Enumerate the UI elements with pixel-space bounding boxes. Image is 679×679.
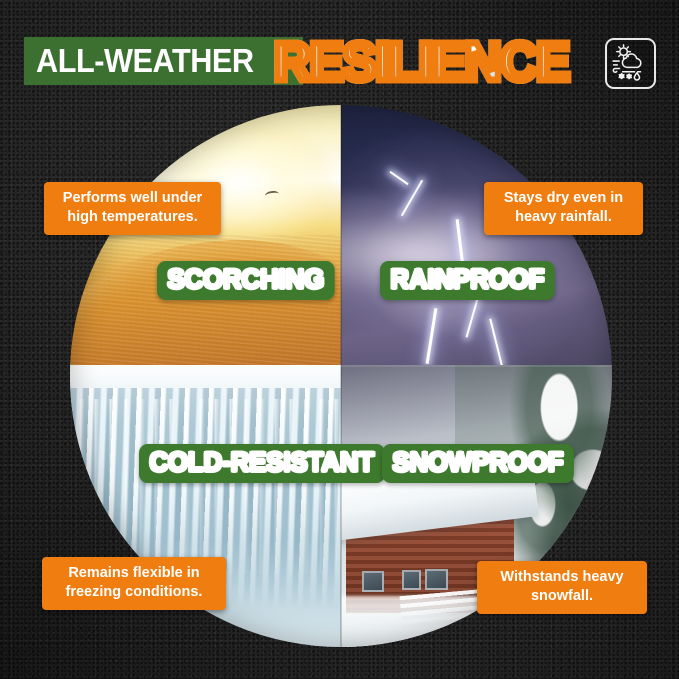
cabin-window <box>362 571 384 592</box>
caption-cold-resistant: Remains flexible in freezing conditions. <box>42 557 226 610</box>
caption-scorching: Performs well under high temperatures. <box>44 182 221 235</box>
headline-badge-snowproof: SNOWPROOF <box>382 444 574 483</box>
icicle-spikes <box>70 399 341 574</box>
collage-vertical-divider <box>340 105 342 647</box>
headline-badge-rainproof: RAINPROOF <box>380 261 555 300</box>
lightning-bolt <box>389 171 408 185</box>
caption-rainproof: Stays dry even in heavy rainfall. <box>484 182 643 235</box>
collage-horizontal-divider <box>70 365 612 367</box>
header-title-primary: ALL-WEATHER <box>36 42 282 80</box>
quadrant-scorching-image <box>70 105 341 365</box>
caption-snowproof: Withstands heavy snowfall. <box>477 561 647 614</box>
cabin-window <box>402 570 421 590</box>
infographic-page: ALL-WEATHER RESILIENCE <box>0 0 679 679</box>
sun-cloud-rain-snow-wind-icon <box>607 40 650 83</box>
header-banner: ALL-WEATHER RESILIENCE <box>24 33 656 91</box>
header-title-accent: RESILIENCE <box>274 31 569 93</box>
sand-ripples <box>70 235 341 365</box>
weather-icon-badge <box>605 38 656 89</box>
headline-badge-scorching: SCORCHING <box>157 261 335 300</box>
headline-badge-cold-resistant: COLD-RESISTANT <box>139 444 385 483</box>
cabin-window <box>425 569 447 590</box>
quadrant-rainproof-image <box>341 105 612 365</box>
